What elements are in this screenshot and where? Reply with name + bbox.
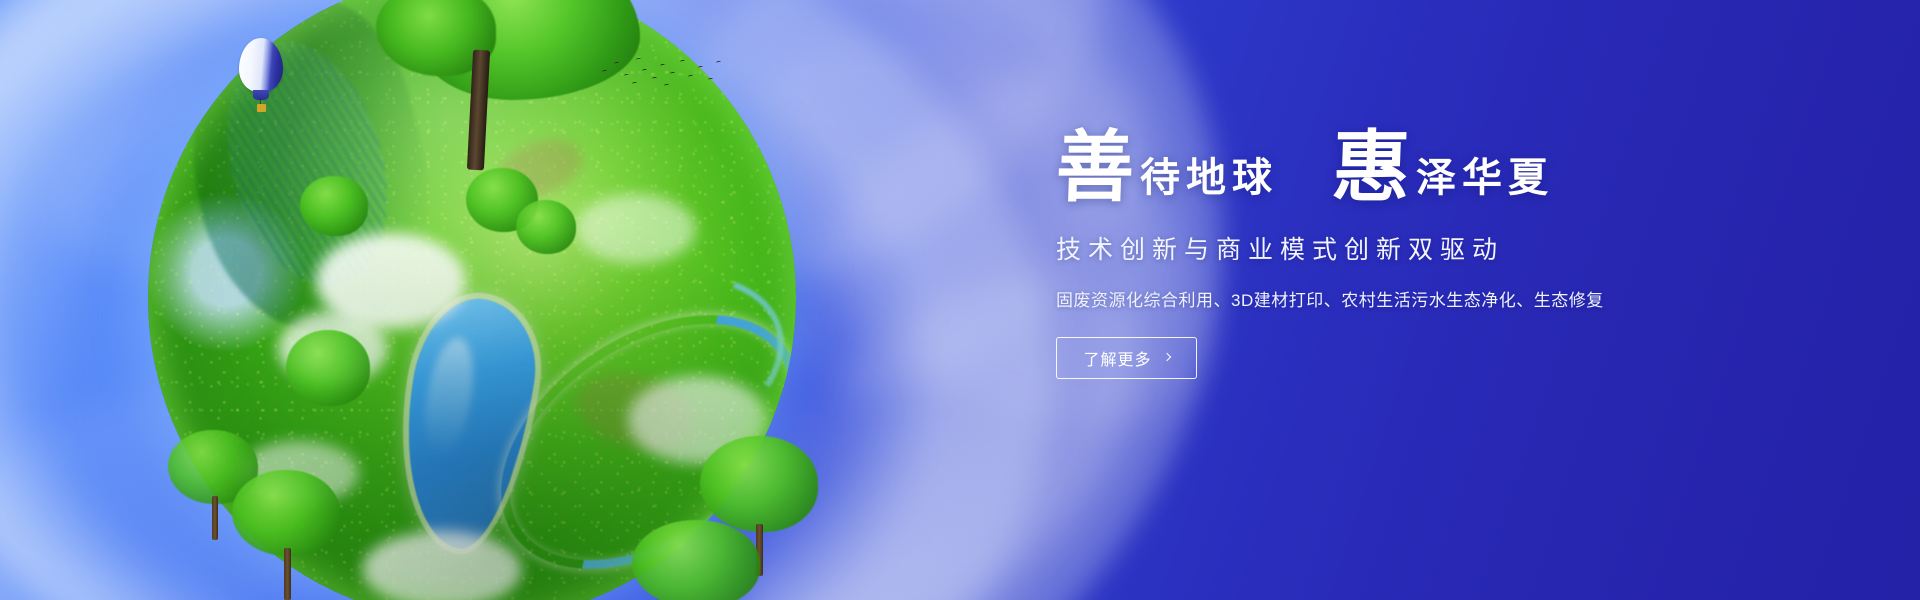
tree-trunk [284, 548, 291, 600]
banner-subtitle: 技术创新与商业模式创新双驱动 [1056, 230, 1776, 266]
tree-icon [632, 520, 762, 600]
page-title: 善 待地球 惠 泽华夏 [1056, 132, 1776, 204]
bird-icon [716, 61, 721, 65]
bird-icon [660, 64, 665, 68]
balloon-envelope [239, 38, 283, 92]
learn-more-button[interactable]: 了解更多 [1056, 337, 1197, 379]
learn-more-label: 了解更多 [1083, 346, 1151, 370]
bird-icon [632, 82, 637, 86]
bird-icon [708, 78, 713, 82]
headline-text-daidiqiu: 待地球 [1140, 158, 1278, 204]
birds-flock-icon [598, 52, 726, 92]
bird-icon [624, 74, 629, 78]
tree-crown [632, 520, 760, 600]
tree-crown [286, 330, 370, 406]
tree-trunk [212, 496, 218, 540]
bird-icon [614, 62, 619, 66]
hot-air-balloon-icon [239, 38, 285, 122]
bird-icon [636, 58, 641, 62]
tree-icon [232, 470, 342, 600]
balloon-skirt [253, 90, 269, 100]
cloud-icon [576, 194, 696, 264]
headline-text-zehuaxia: 泽华夏 [1416, 158, 1554, 204]
banner-content: 善 待地球 惠 泽华夏 技术创新与商业模式创新双驱动 固废资源化综合利用、3D建… [1056, 132, 1776, 379]
hero-banner: 善 待地球 惠 泽华夏 技术创新与商业模式创新双驱动 固废资源化综合利用、3D建… [0, 0, 1920, 600]
bird-icon [688, 75, 693, 79]
balloon-basket [257, 104, 266, 112]
bird-icon [642, 69, 647, 73]
tree-crown [300, 176, 368, 236]
bird-icon [670, 72, 675, 76]
bird-icon [664, 84, 669, 88]
tree-crown [516, 200, 576, 254]
tree-icon [286, 330, 372, 408]
bird-icon [680, 60, 685, 64]
tree-icon [300, 176, 370, 238]
tree-crown [700, 436, 818, 532]
cloud-icon [362, 531, 522, 600]
bird-icon [652, 77, 657, 81]
bird-icon [602, 70, 607, 74]
chevron-right-icon [1162, 353, 1170, 361]
bird-icon [698, 66, 703, 70]
headline-char-shan: 善 [1055, 132, 1136, 204]
headline-char-hui: 惠 [1331, 132, 1412, 204]
banner-description: 固废资源化综合利用、3D建材打印、农村生活污水生态净化、生态修复 [1056, 286, 1776, 311]
tree-icon [516, 200, 578, 256]
tree-crown [232, 470, 340, 556]
